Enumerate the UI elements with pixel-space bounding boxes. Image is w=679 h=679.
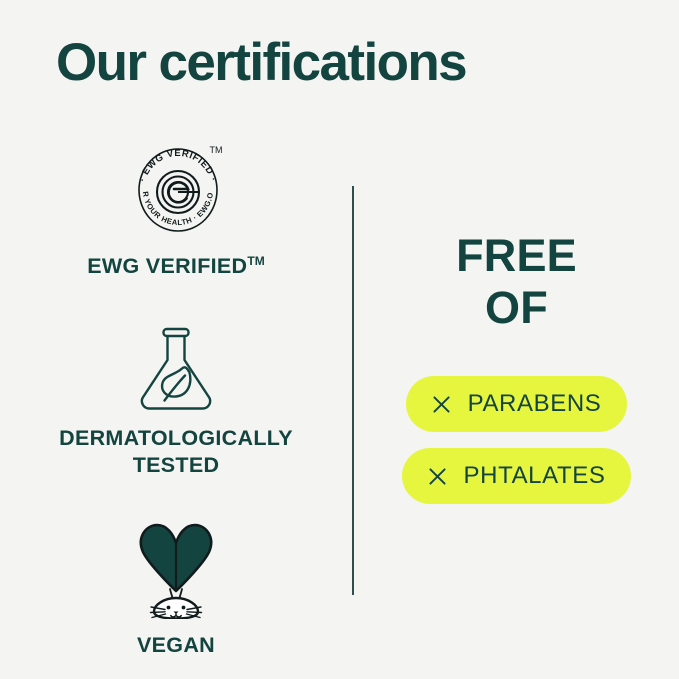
flask-leaf-icon — [134, 322, 218, 412]
svg-text:TM: TM — [209, 145, 222, 155]
certification-label-text: EWG VERIFIED — [87, 254, 247, 278]
free-of-pill-label: PARABENS — [468, 390, 602, 418]
x-mark-icon — [428, 467, 447, 486]
page-title: Our certifications — [56, 34, 466, 92]
x-mark-icon — [432, 395, 451, 414]
certification-item-ewg-verified: · EWG VERIFIED · · FOR YOUR HEALTH · EWG… — [87, 136, 264, 280]
ewg-verified-seal-icon: · EWG VERIFIED · · FOR YOUR HEALTH · EWG… — [124, 136, 228, 240]
certification-item-vegan: VEGAN — [127, 519, 225, 659]
certification-item-dermatologically-tested: DERMATOLOGICALLY TESTED — [59, 322, 293, 479]
certification-label-vegan: VEGAN — [137, 632, 215, 659]
certification-label-ewg-verified: EWG VERIFIEDTM — [87, 253, 264, 280]
free-of-list: PARABENS PHTALATES — [402, 376, 632, 504]
certification-label-dermatologically-tested: DERMATOLOGICALLY TESTED — [59, 425, 293, 479]
free-of-pill-label: PHTALATES — [464, 462, 606, 490]
free-of-column: FREE OF PARABENS PHTALATES — [354, 118, 679, 658]
free-of-heading: FREE OF — [456, 230, 577, 334]
certifications-column: · EWG VERIFIED · · FOR YOUR HEALTH · EWG… — [0, 118, 352, 658]
rabbit-heart-ears-icon — [127, 519, 225, 619]
trademark-mark: TM — [247, 254, 264, 268]
certifications-panel: Our certifications · EWG VER — [0, 0, 679, 679]
free-of-pill-parabens[interactable]: PARABENS — [406, 376, 628, 432]
content-columns: · EWG VERIFIED · · FOR YOUR HEALTH · EWG… — [0, 118, 679, 658]
free-of-pill-phtalates[interactable]: PHTALATES — [402, 448, 632, 504]
